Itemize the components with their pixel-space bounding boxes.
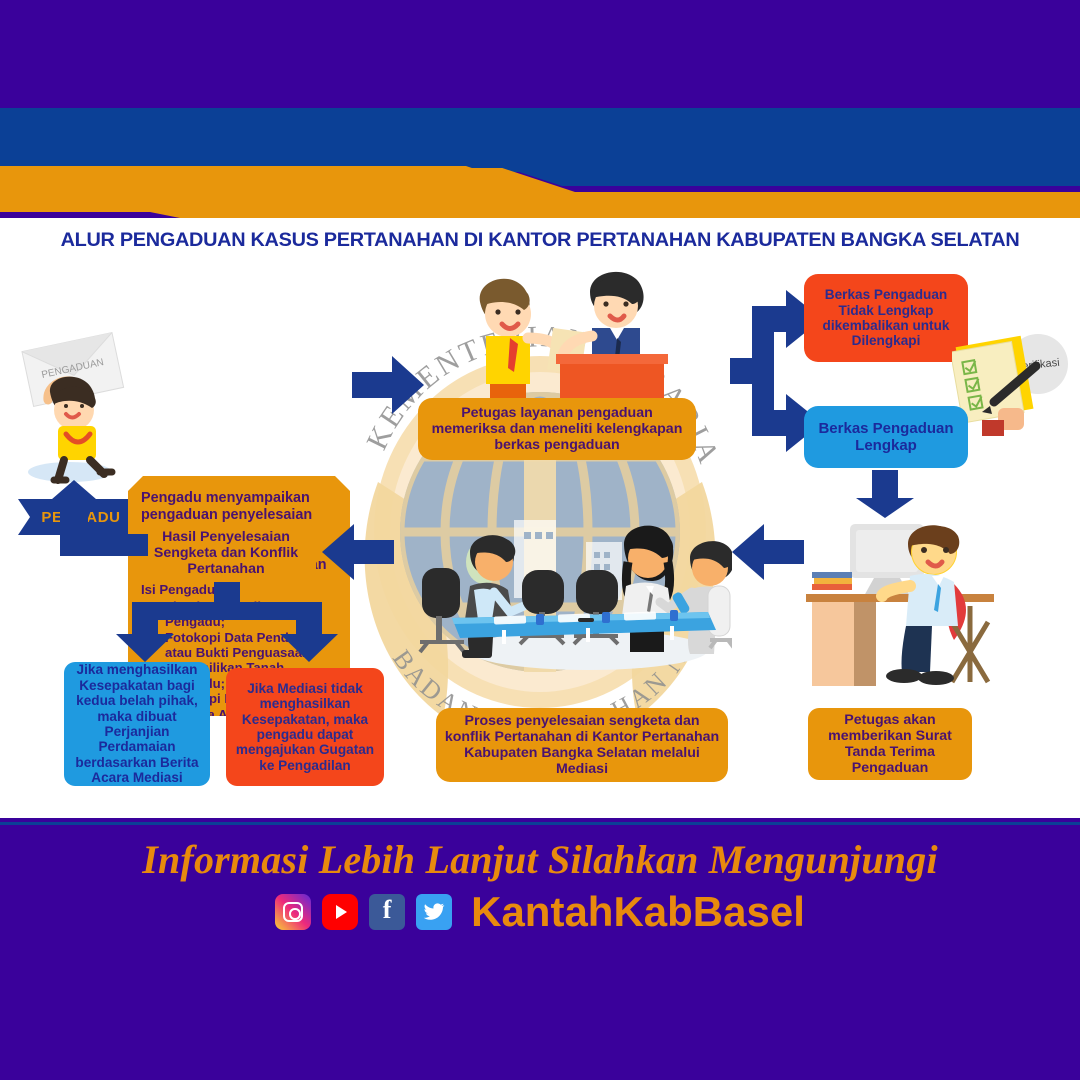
- footer-divider: [0, 822, 1080, 825]
- box-hasil-penyelesaian: Hasil Penyelesaian Sengketa dan Konflik …: [136, 522, 316, 584]
- box-proses-mediasi: Proses penyelesaian sengketa dan konflik…: [436, 708, 728, 782]
- facebook-icon[interactable]: f: [369, 894, 405, 930]
- mediation-meeting-illustration: [408, 500, 732, 680]
- box-berkas-tidak-lengkap: Berkas Pengaduan Tidak Lengkap dikembali…: [804, 274, 968, 362]
- box-jika-sepakat: Jika menghasilkan Kesepakatan bagi kedua…: [64, 662, 210, 786]
- arrow-right-to-center: [732, 524, 804, 580]
- social-handle: KantahKabBasel: [471, 891, 805, 933]
- twitter-icon[interactable]: [416, 894, 452, 930]
- twitter-bird-glyph: [423, 903, 445, 921]
- office-chair: [708, 586, 732, 648]
- youtube-icon[interactable]: [322, 894, 358, 930]
- box-surat-tanda-terima: Petugas akan memberikan Surat Tanda Teri…: [808, 708, 972, 780]
- infographic-canvas: ALUR PENGADUAN KASUS PERTANAHAN DI KANTO…: [0, 218, 1080, 818]
- header-band-purple: [0, 0, 1080, 108]
- footer: Informasi Lebih Lanjut Silahkan Mengunju…: [0, 822, 1080, 950]
- box-jika-tidak-sepakat: Jika Mediasi tidak menghasilkan Kesepaka…: [226, 668, 384, 786]
- arrow-box1-to-center: [352, 356, 424, 414]
- office-chair: [420, 568, 464, 652]
- arrow-hasil-feedback-up: [44, 480, 148, 556]
- verification-illustration: Verifikasi: [952, 326, 1076, 438]
- poster-root: ALUR PENGADUAN KASUS PERTANAHAN DI KANTO…: [0, 0, 1080, 1080]
- officer-desk-illustration: [802, 506, 1052, 686]
- instagram-icon[interactable]: [275, 894, 311, 930]
- arrow-fork-to-outcomes: [110, 582, 346, 662]
- social-row: f KantahKabBasel: [0, 891, 1080, 933]
- footer-title: Informasi Lebih Lanjut Silahkan Mengunju…: [0, 822, 1080, 882]
- arrow-center-to-hasil: [322, 524, 394, 580]
- box-berkas-lengkap: Berkas Pengaduan Lengkap: [804, 406, 968, 468]
- box-petugas-memeriksa: Petugas layanan pengaduan memeriksa dan …: [418, 398, 696, 460]
- complainant-illustration: PENGADUAN: [8, 314, 138, 494]
